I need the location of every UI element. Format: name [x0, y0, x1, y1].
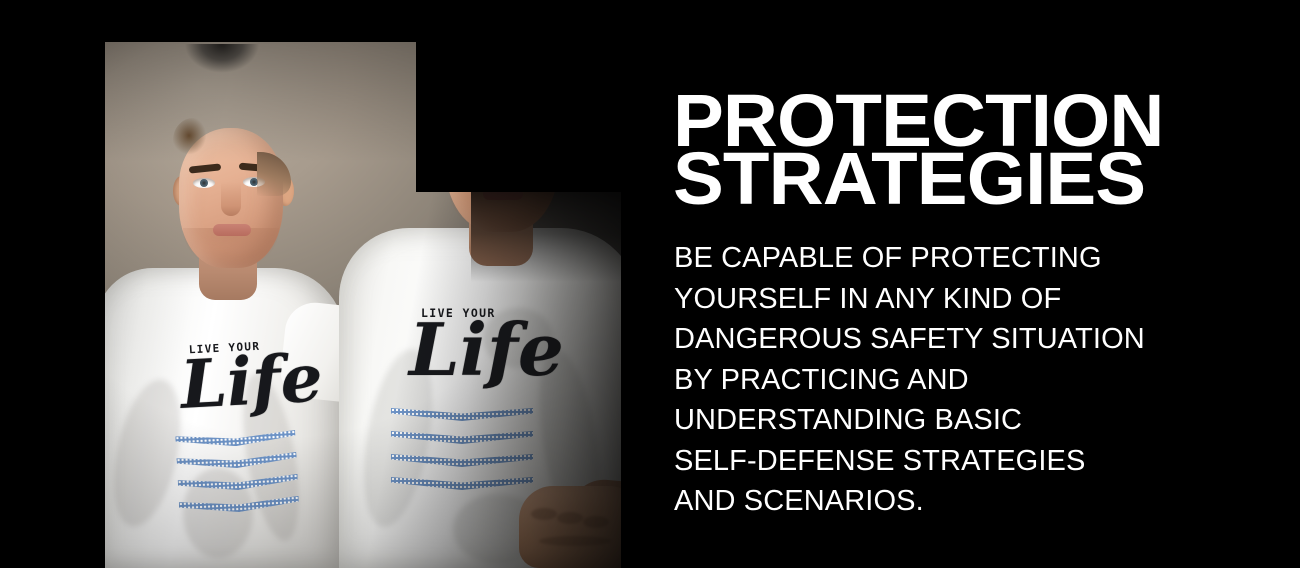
body-line: BY PRACTICING AND — [674, 360, 1214, 401]
body-line: SELF-DEFENSE STRATEGIES — [674, 441, 1214, 482]
page-title: PROTECTION STRATEGIES — [673, 92, 1209, 207]
panel-black-corner-fade — [471, 162, 621, 282]
body-line: YOURSELF IN ANY KIND OF — [674, 279, 1214, 320]
body-line: DANGEROUS SAFETY SITUATION — [674, 319, 1214, 360]
copy-block: PROTECTION STRATEGIES BE CAPABLE OF PROT… — [673, 0, 1233, 568]
hero-photo: LIVE YOUR Life LIFE — [105, 42, 621, 568]
banner-root: LIVE YOUR Life LIFE — [0, 0, 1300, 568]
headline-line-2: STRATEGIES — [673, 150, 1209, 208]
body-line: BE CAPABLE OF PROTECTING — [674, 238, 1214, 279]
body-copy: BE CAPABLE OF PROTECTING YOURSELF IN ANY… — [674, 238, 1214, 522]
body-line: AND SCENARIOS. — [674, 481, 1214, 522]
body-line: UNDERSTANDING BASIC — [674, 400, 1214, 441]
